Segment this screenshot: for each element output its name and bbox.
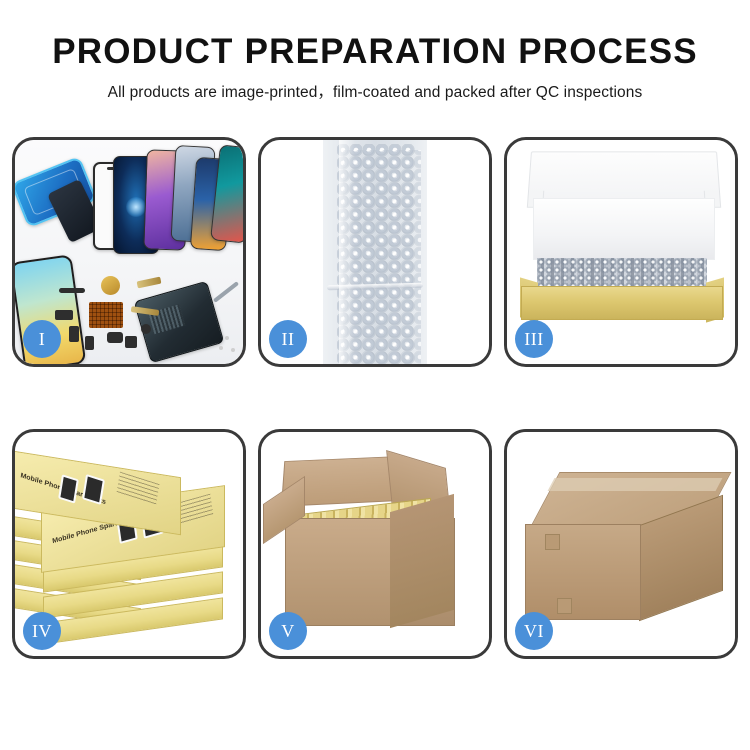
kraft-box-body — [521, 258, 723, 318]
open-carton-body — [285, 518, 455, 626]
step-badge-4: IV — [23, 612, 61, 650]
wrap-gloss-highlight — [339, 140, 355, 364]
process-step-panel-6: VI — [504, 429, 738, 659]
inner-bubble-texture — [537, 258, 707, 288]
phone-chassis-board — [134, 281, 225, 363]
step-badge-6: VI — [515, 612, 553, 650]
box-screen-image-1b — [82, 474, 105, 505]
step-badge-5: V — [269, 612, 307, 650]
copper-shield-grid — [89, 302, 123, 328]
bubble-wrap-sheet — [323, 140, 427, 364]
tweezers-tool — [213, 281, 239, 303]
battery-connector-part — [125, 336, 137, 348]
box-front-panel — [521, 286, 723, 320]
screw-3 — [231, 348, 235, 352]
sealed-carton — [525, 472, 723, 622]
process-step-panel-2: II — [258, 137, 492, 367]
sim-tray-part — [85, 336, 94, 350]
screw-2 — [219, 346, 223, 350]
sealing-tape-top — [548, 478, 723, 491]
page-title: PRODUCT PREPARATION PROCESS — [0, 32, 750, 71]
sealed-carton-front — [525, 524, 641, 620]
connector-bracket-a — [55, 310, 73, 320]
camera-lens-part — [107, 332, 123, 343]
step-badge-2: II — [269, 320, 307, 358]
carton-tab-lower — [557, 598, 572, 614]
process-step-panel-4: Mobile Phone Spare Parts Mobile Phone Sp… — [12, 429, 246, 659]
screw-1 — [225, 336, 229, 340]
process-step-panel-1: I — [12, 137, 246, 367]
earpiece-part — [141, 324, 151, 334]
power-flex-cable — [137, 277, 162, 289]
process-step-panel-5: V — [258, 429, 492, 659]
connector-bracket-b — [69, 326, 79, 342]
page-subtitle: All products are image-printed，film-coat… — [0, 80, 750, 102]
carton-front-face — [286, 519, 394, 625]
step-badge-1: I — [23, 320, 61, 358]
process-step-grid: I II — [12, 137, 738, 687]
speaker-mesh-part — [59, 288, 85, 293]
carton-tab-upper — [545, 534, 560, 550]
step-badge-3: III — [515, 320, 553, 358]
header: PRODUCT PREPARATION PROCESS All products… — [0, 32, 750, 102]
vibration-motor-part — [101, 276, 120, 295]
white-foam-sheet — [533, 198, 715, 260]
process-step-panel-3: III — [504, 137, 738, 367]
carton-side-face — [390, 494, 454, 628]
product-preparation-infographic: PRODUCT PREPARATION PROCESS All products… — [0, 0, 750, 750]
